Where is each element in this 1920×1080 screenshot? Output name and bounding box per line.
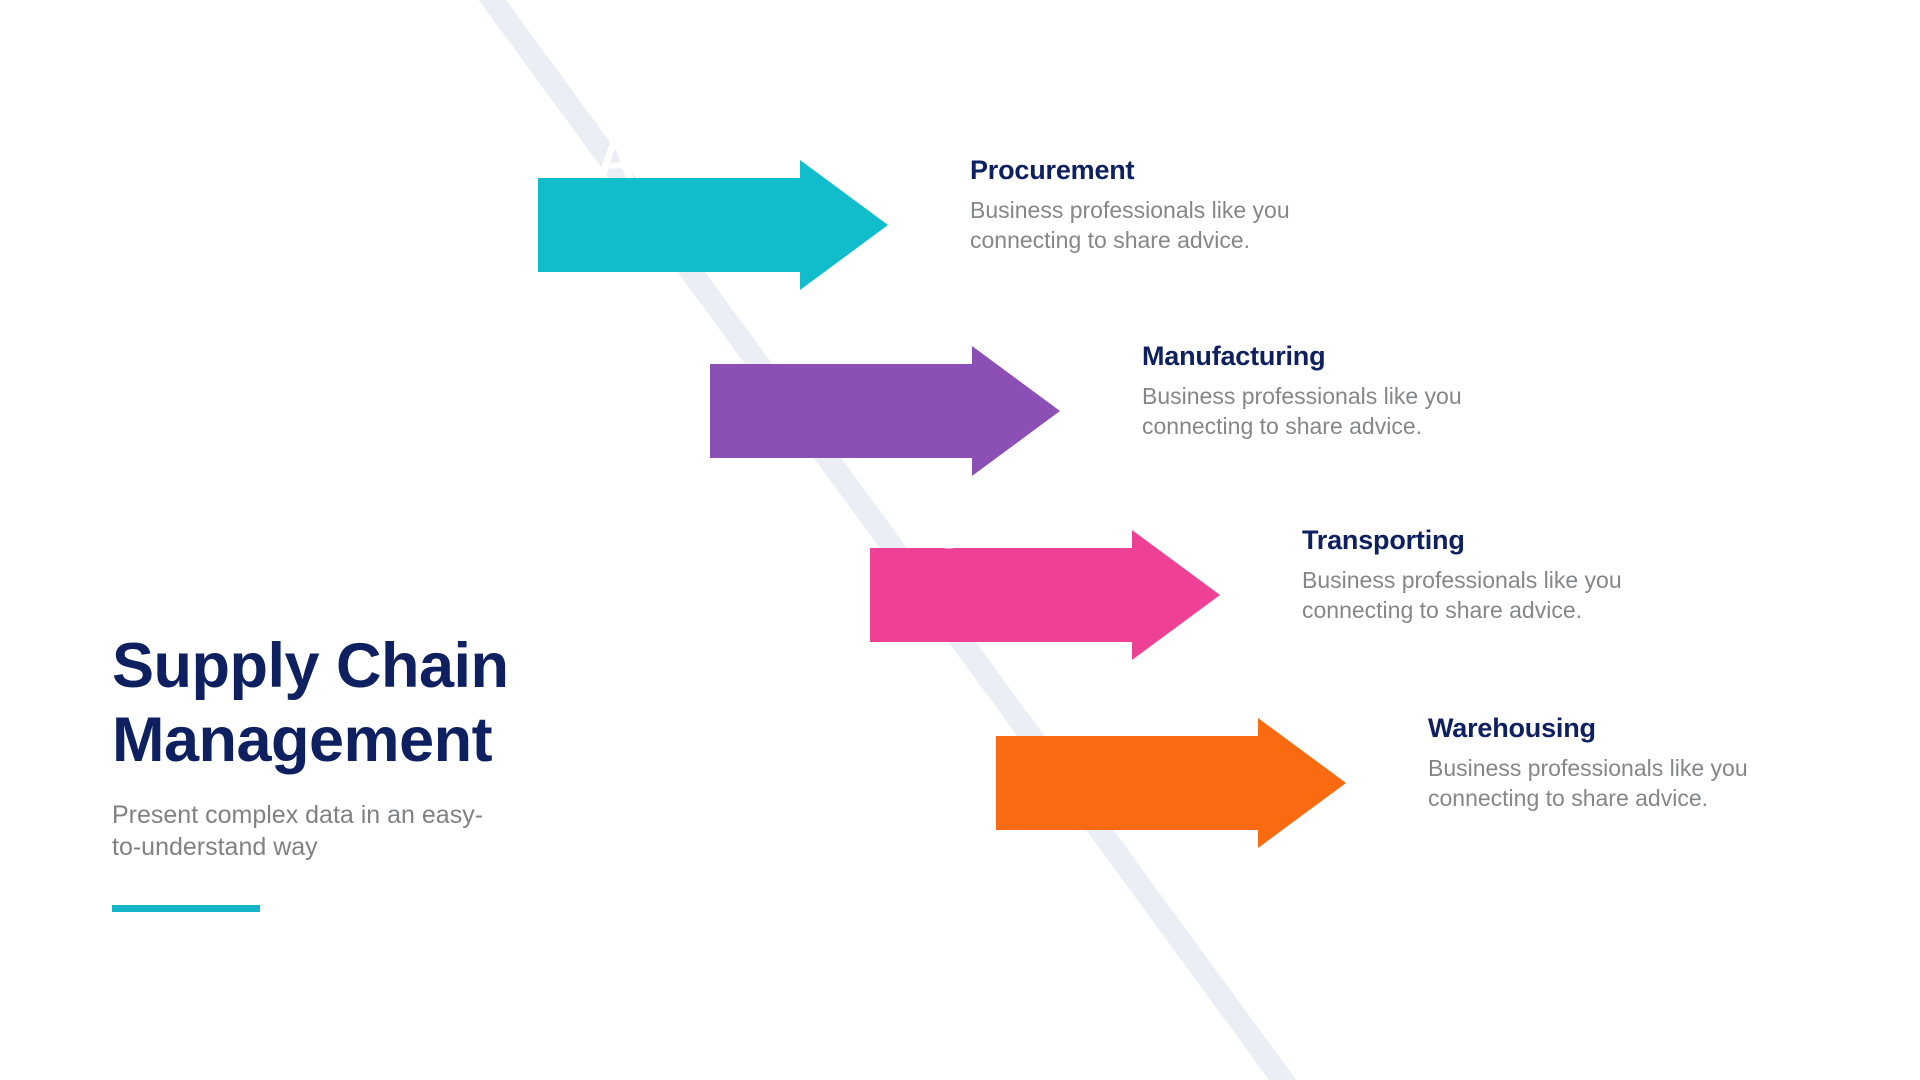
arrow-shape-d[interactable]: [996, 718, 1346, 848]
arrow-shape-a[interactable]: [538, 160, 888, 290]
slide-canvas: Supply Chain Management Present complex …: [0, 0, 1920, 1080]
arrow-icon: [710, 346, 1060, 476]
step-heading-d: Warehousing: [1428, 712, 1788, 744]
step-body-b: Business professionals like you connecti…: [1142, 382, 1502, 442]
step-text-b: Manufacturing Business professionals lik…: [1142, 340, 1502, 442]
arrow-icon: [870, 530, 1220, 660]
arrow-shape-c[interactable]: [870, 530, 1220, 660]
step-body-a: Business professionals like you connecti…: [970, 196, 1330, 256]
step-text-d: Warehousing Business professionals like …: [1428, 712, 1788, 814]
arrow-icon: [538, 160, 888, 290]
page-subtitle: Present complex data in an easy-to-under…: [112, 799, 512, 863]
step-body-c: Business professionals like you connecti…: [1302, 566, 1662, 626]
step-heading-c: Transporting: [1302, 524, 1662, 556]
step-body-d: Business professionals like you connecti…: [1428, 754, 1788, 814]
step-text-c: Transporting Business professionals like…: [1302, 524, 1662, 626]
step-heading-b: Manufacturing: [1142, 340, 1502, 372]
title-block: Supply Chain Management Present complex …: [112, 630, 672, 912]
page-title: Supply Chain Management: [112, 630, 672, 777]
step-text-a: Procurement Business professionals like …: [970, 154, 1330, 256]
title-underline-accent: [112, 905, 260, 912]
arrow-icon: [996, 718, 1346, 848]
arrow-shape-b[interactable]: [710, 346, 1060, 476]
step-heading-a: Procurement: [970, 154, 1330, 186]
